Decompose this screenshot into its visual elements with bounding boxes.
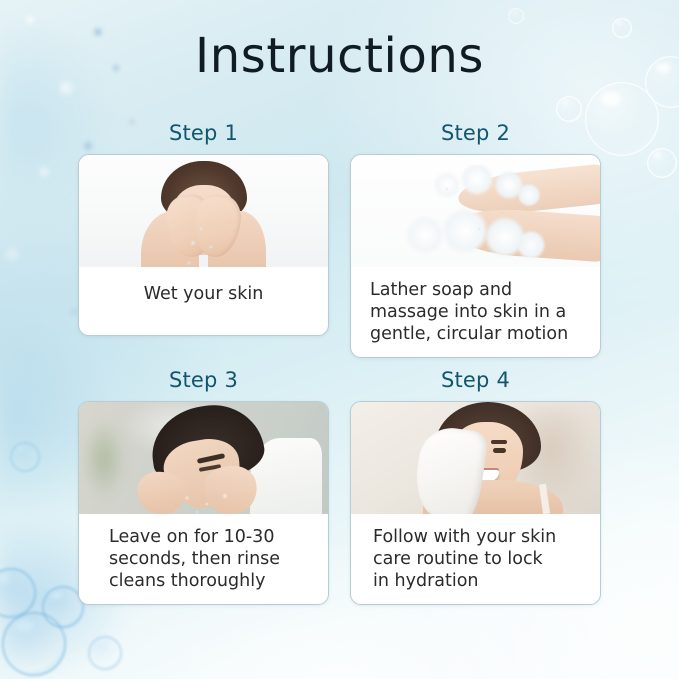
- step-item-3: Step 3: [78, 365, 329, 605]
- woman-splashing-water-on-face-image: [79, 155, 328, 267]
- steps-grid: Step 1 Wet your skin: [78, 118, 601, 605]
- steps-row-top: Step 1 Wet your skin: [78, 118, 601, 358]
- soap-bubble: [508, 8, 524, 24]
- step-caption-4: Follow with your skin care routine to lo…: [351, 514, 600, 604]
- hands-with-soap-lather-image: [351, 155, 600, 267]
- step-item-4: Step 4: [350, 365, 601, 605]
- smiling-woman-drying-face-with-towel-image: [351, 402, 600, 514]
- step-photo-3: [79, 402, 328, 514]
- step-card-3[interactable]: Leave on for 10-30 seconds, then rinse c…: [78, 401, 329, 605]
- step-photo-4: [351, 402, 600, 514]
- page-title: Instructions: [0, 28, 679, 84]
- step-photo-1: [79, 155, 328, 267]
- step-card-2[interactable]: Lather soap and massage into skin in a g…: [350, 154, 601, 358]
- step-label-4: Step 4: [350, 365, 601, 395]
- step-item-1: Step 1 Wet your skin: [78, 118, 329, 358]
- step-caption-1: Wet your skin: [79, 267, 328, 335]
- step-card-4[interactable]: Follow with your skin care routine to lo…: [350, 401, 601, 605]
- step-label-2: Step 2: [350, 118, 601, 148]
- step-label-3: Step 3: [78, 365, 329, 395]
- soap-bubble: [88, 636, 122, 670]
- soap-bubble: [10, 442, 40, 472]
- instructions-infographic: Instructions Step 1: [0, 0, 679, 679]
- step-caption-2: Lather soap and massage into skin in a g…: [351, 267, 600, 357]
- woman-rinsing-face-over-sink-image: [79, 402, 328, 514]
- step-item-2: Step 2 Lather soap and massage into skin…: [350, 118, 601, 358]
- step-caption-3: Leave on for 10-30 seconds, then rinse c…: [79, 514, 328, 604]
- step-photo-2: [351, 155, 600, 267]
- step-card-1[interactable]: Wet your skin: [78, 154, 329, 336]
- soap-bubble: [647, 148, 677, 178]
- steps-row-bottom: Step 3: [78, 365, 601, 605]
- step-label-1: Step 1: [78, 118, 329, 148]
